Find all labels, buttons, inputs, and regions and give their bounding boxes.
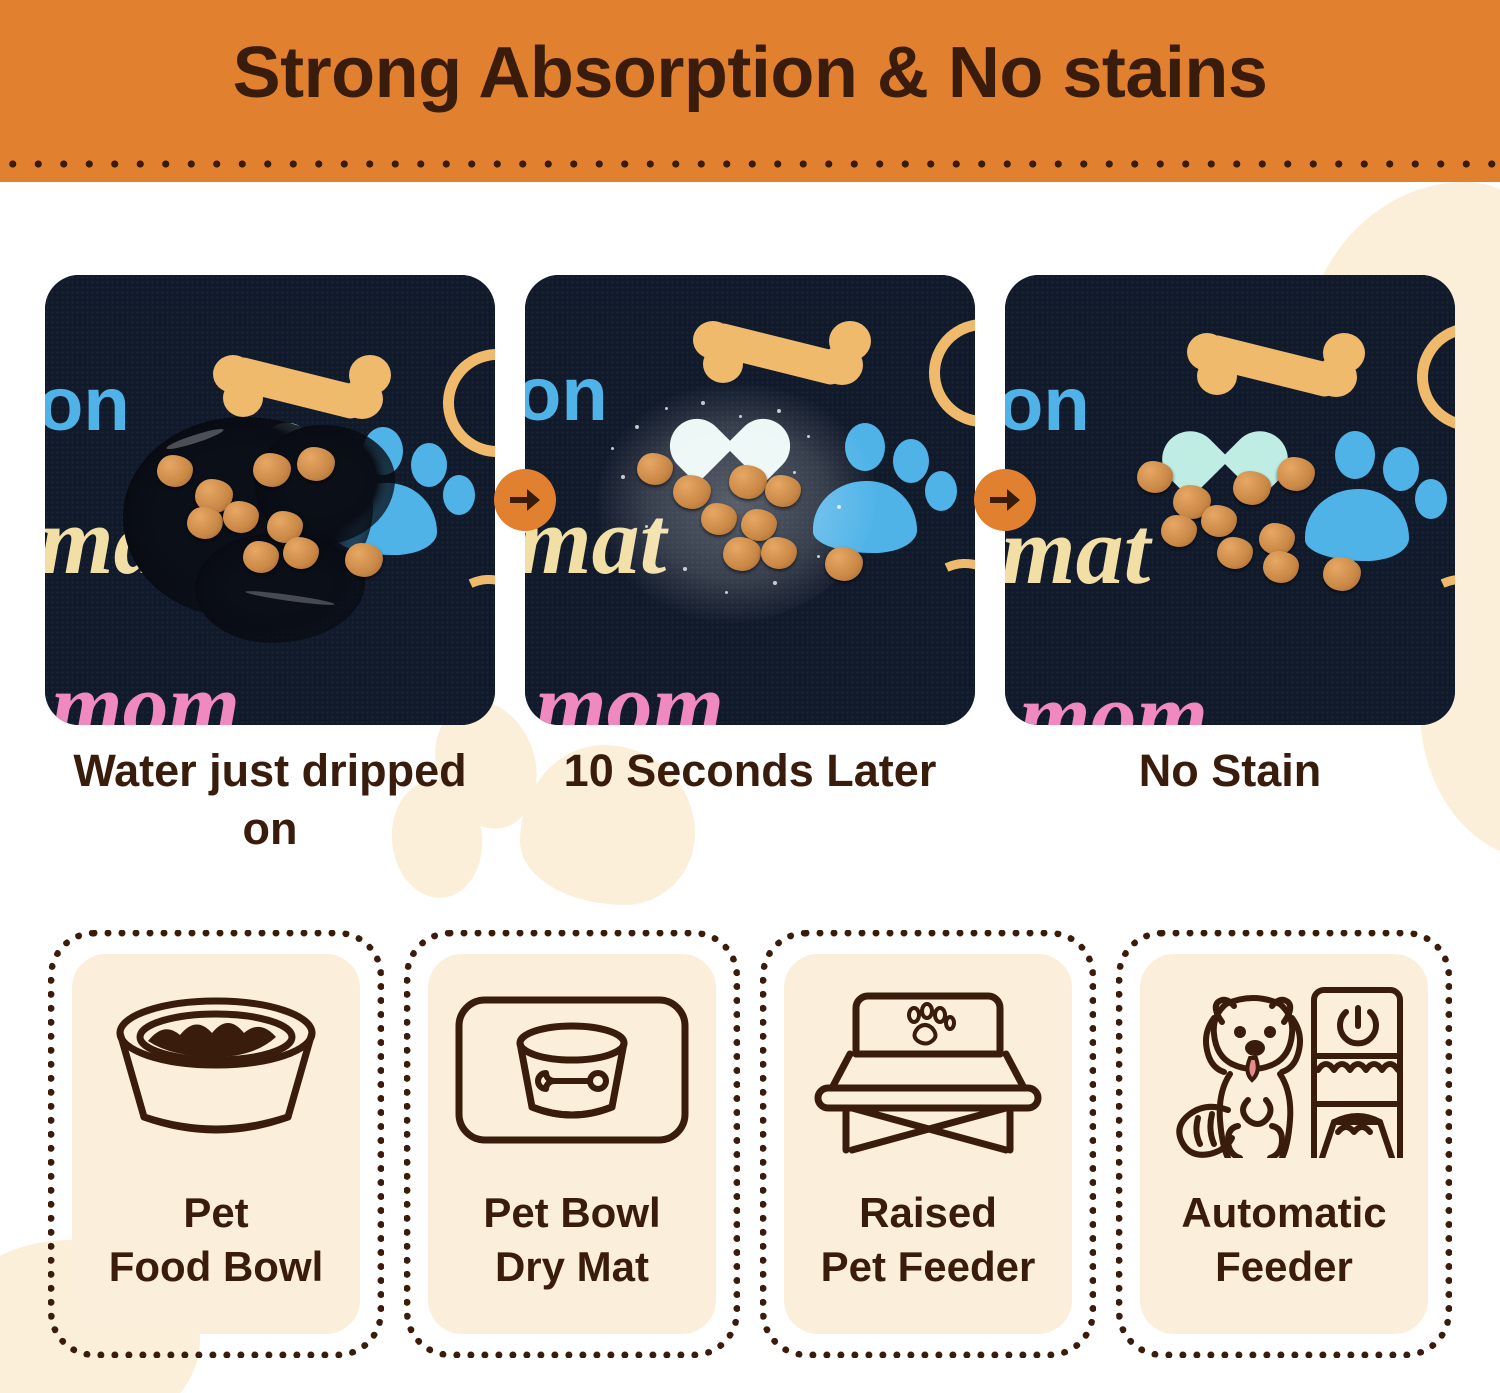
- card-automatic-feeder[interactable]: AutomaticFeeder: [1116, 930, 1452, 1358]
- demo-panel-ten-seconds: on mat mom: [525, 275, 975, 725]
- page-title: Strong Absorption & No stains: [0, 32, 1500, 114]
- mat-text-mom: mom: [535, 659, 724, 725]
- card-inner: AutomaticFeeder: [1140, 954, 1428, 1334]
- moisture-speck: [777, 409, 781, 413]
- demo-panel-no-stain: on mat mom: [1005, 275, 1455, 725]
- raised-pet-feeder-icon: [784, 954, 1072, 1186]
- mat-text-on: on: [1005, 367, 1090, 443]
- card-inner: Pet BowlDry Mat: [428, 954, 716, 1334]
- caption-ten-seconds: 10 Seconds Later: [525, 742, 975, 800]
- card-label: Pet BowlDry Mat: [477, 1186, 666, 1294]
- moisture-speck: [773, 581, 777, 585]
- moisture-speck: [725, 591, 728, 594]
- moisture-speck: [683, 567, 687, 571]
- header-banner: Strong Absorption & No stains: [0, 0, 1500, 182]
- mat-text-on: on: [525, 357, 608, 433]
- mat-text-mom: mom: [1019, 669, 1208, 725]
- card-pet-bowl-dry-mat[interactable]: Pet BowlDry Mat: [404, 930, 740, 1358]
- moisture-speck: [635, 425, 639, 429]
- arrow-right-icon: [494, 469, 556, 531]
- automatic-feeder-icon: [1140, 954, 1428, 1186]
- mat-text-mom: mom: [51, 659, 240, 725]
- caption-water-dripped: Water just dripped on: [45, 742, 495, 857]
- moisture-speck: [817, 555, 820, 558]
- moisture-speck: [701, 401, 705, 405]
- moisture-speck: [621, 475, 625, 479]
- card-inner: RaisedPet Feeder: [784, 954, 1072, 1334]
- feature-cards-row: PetFood Bowl Pet BowlDry Mat: [48, 930, 1452, 1360]
- card-inner: PetFood Bowl: [72, 954, 360, 1334]
- moisture-speck: [645, 525, 648, 528]
- card-raised-pet-feeder[interactable]: RaisedPet Feeder: [760, 930, 1096, 1358]
- pet-bowl-dry-mat-icon: [428, 954, 716, 1186]
- mat-text-on: on: [45, 367, 130, 443]
- moisture-speck: [739, 415, 742, 418]
- caption-no-stain: No Stain: [1005, 742, 1455, 800]
- moisture-speck: [611, 447, 614, 450]
- moisture-speck: [665, 407, 668, 410]
- card-label: AutomaticFeeder: [1175, 1186, 1392, 1294]
- moisture-speck: [837, 505, 841, 509]
- moisture-speck: [793, 471, 796, 474]
- card-label: PetFood Bowl: [103, 1186, 330, 1294]
- pet-food-bowl-icon: [72, 954, 360, 1186]
- demo-panel-water-dripped: on mat mom: [45, 275, 495, 725]
- dotted-divider: [0, 158, 1500, 170]
- arrow-right-icon: [974, 469, 1036, 531]
- card-pet-food-bowl[interactable]: PetFood Bowl: [48, 930, 384, 1358]
- moisture-speck: [807, 435, 810, 438]
- card-label: RaisedPet Feeder: [815, 1186, 1042, 1294]
- absorption-demo-row: on mat mom: [45, 275, 1455, 725]
